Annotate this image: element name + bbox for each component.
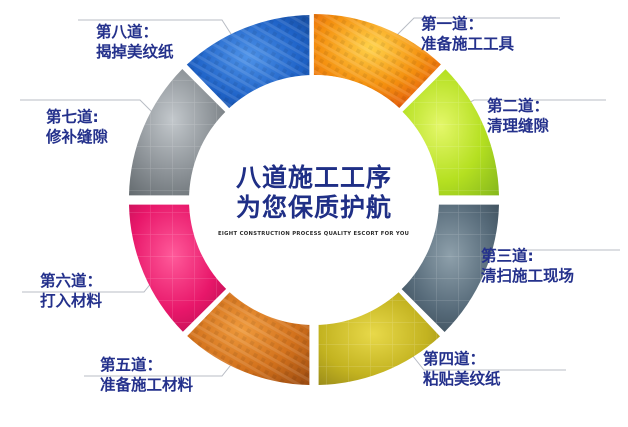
center-subtitle: EIGHT CONSTRUCTION PROCESS QUALITY ESCOR…: [218, 231, 409, 237]
infographic-canvas: 八道施工工序 为您保质护航 EIGHT CONSTRUCTION PROCESS…: [0, 0, 628, 427]
center-title-line2: 为您保质护航: [236, 193, 392, 222]
label-step-4-line2: 粘贴美纹纸: [423, 369, 501, 389]
label-step-6-line2: 打入材料: [40, 291, 102, 311]
label-step-5[interactable]: 第五道： 准备施工材料: [100, 355, 193, 395]
label-step-7[interactable]: 第七道: 修补缝隙: [46, 107, 108, 147]
label-step-7-line2: 修补缝隙: [46, 127, 108, 147]
label-step-4-line1: 第四道：: [423, 350, 485, 368]
center-hub: 八道施工工序 为您保质护航 EIGHT CONSTRUCTION PROCESS…: [189, 75, 439, 325]
label-step-4[interactable]: 第四道： 粘贴美纹纸: [423, 349, 501, 389]
process-wheel: 八道施工工序 为您保质护航 EIGHT CONSTRUCTION PROCESS…: [128, 14, 500, 386]
label-step-8-line1: 第八道：: [96, 23, 158, 41]
label-step-5-line1: 第五道：: [100, 356, 162, 374]
label-step-8-line2: 揭掉美纹纸: [96, 42, 174, 62]
label-step-3[interactable]: 第三道: 清扫施工现场: [481, 246, 574, 286]
label-step-7-line1: 第七道:: [46, 108, 99, 126]
label-step-2-line1: 第二道：: [487, 97, 549, 115]
label-step-1-line2: 准备施工工具: [421, 34, 514, 54]
label-step-2[interactable]: 第二道： 清理缝隙: [487, 96, 549, 136]
label-step-8[interactable]: 第八道： 揭掉美纹纸: [96, 22, 174, 62]
label-step-2-line2: 清理缝隙: [487, 116, 549, 136]
center-title-line1: 八道施工工序: [236, 163, 392, 192]
label-step-6-line1: 第六道：: [40, 272, 102, 290]
label-step-3-line2: 清扫施工现场: [481, 266, 574, 286]
label-step-6[interactable]: 第六道： 打入材料: [40, 271, 102, 311]
label-step-1[interactable]: 第一道： 准备施工工具: [421, 14, 514, 54]
label-step-3-line1: 第三道:: [481, 247, 534, 265]
label-step-5-line2: 准备施工材料: [100, 375, 193, 395]
label-step-1-line1: 第一道：: [421, 15, 483, 33]
